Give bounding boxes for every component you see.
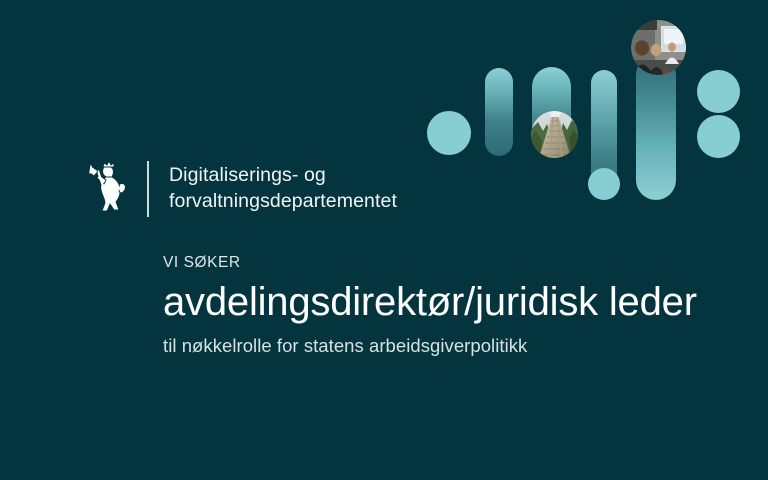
decor-pill-4 <box>591 70 617 200</box>
norway-coat-of-arms-lion-icon <box>86 160 132 218</box>
photo-boardwalk <box>531 111 578 158</box>
decor-dot-6-bottom <box>697 115 740 158</box>
decorative-graphic-band <box>410 0 768 215</box>
decor-dot-6-top <box>697 70 740 113</box>
decor-dot-4-cap <box>588 168 620 200</box>
page-subtitle: til nøkkelrolle for statens arbeidsgiver… <box>163 334 743 357</box>
brand-lockup: Digitaliserings- og forvaltningsdepartem… <box>86 160 397 218</box>
brand-divider <box>147 161 149 217</box>
job-ad-poster: Digitaliserings- og forvaltningsdepartem… <box>0 0 768 480</box>
eyebrow-label: VI SØKER <box>163 254 743 272</box>
decor-pill-5 <box>636 55 676 200</box>
headline-block: VI SØKER avdelingsdirektør/juridisk lede… <box>163 254 743 357</box>
decor-dot-1 <box>427 111 471 155</box>
decor-pill-3 <box>532 67 571 156</box>
photo-meeting <box>631 20 686 75</box>
page-title: avdelingsdirektør/juridisk leder <box>163 280 743 325</box>
brand-name: Digitaliserings- og forvaltningsdepartem… <box>169 163 397 214</box>
decor-pill-2 <box>485 68 513 156</box>
